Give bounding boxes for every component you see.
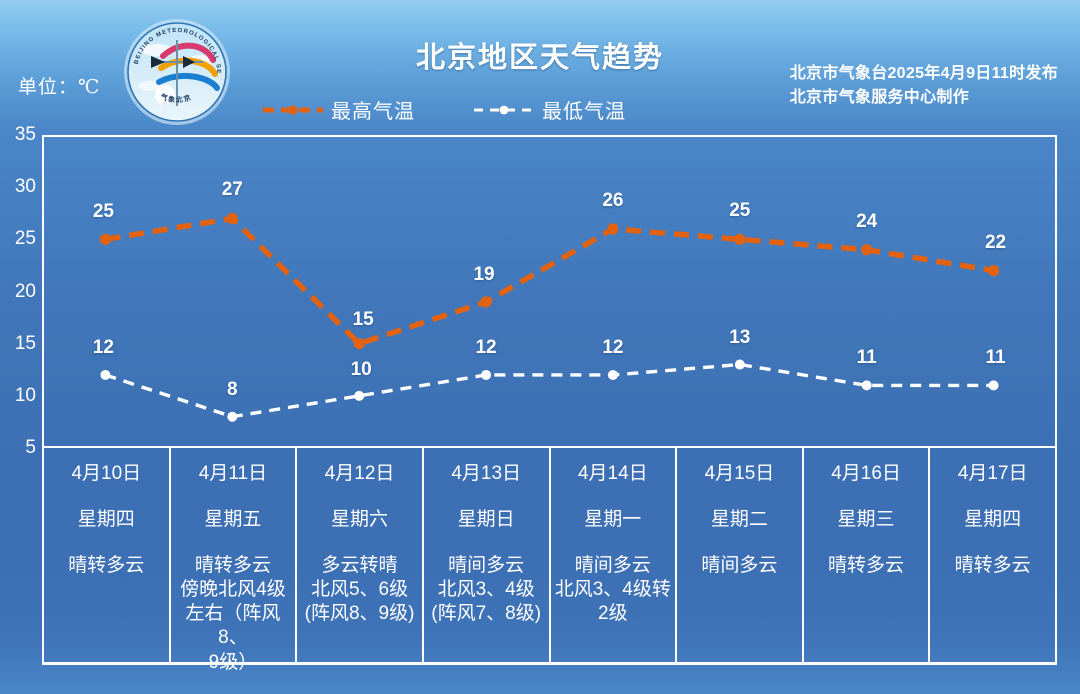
forecast-table: 4月10日星期四晴转多云4月11日星期五晴转多云 傍晚北风4级 左右（阵风8、 … — [42, 448, 1057, 665]
forecast-weekday: 星期六 — [299, 508, 420, 532]
chart-plot-area — [42, 135, 1057, 448]
forecast-day-column: 4月12日星期六多云转晴 北风5、6级 (阵风8、9级) — [297, 448, 424, 662]
forecast-weekday: 星期四 — [932, 508, 1053, 532]
data-point-label: 12 — [475, 337, 496, 359]
legend-item-high-temp: 最高气温 — [262, 95, 415, 124]
data-point-label: 10 — [351, 359, 372, 381]
data-point-label: 13 — [729, 327, 750, 349]
unit-label: 单位：℃ — [18, 72, 100, 99]
forecast-date: 4月11日 — [173, 462, 294, 486]
forecast-weekday: 星期四 — [46, 508, 167, 532]
forecast-description: 晴转多云 傍晚北风4级 左右（阵风8、 9级） — [173, 554, 294, 676]
legend-marker-high-temp-icon — [262, 103, 324, 117]
forecast-day-column: 4月14日星期一晴间多云 北风3、4级转 2级 — [551, 448, 678, 662]
forecast-description: 晴间多云 — [679, 554, 800, 578]
y-axis-tick: 15 — [0, 333, 36, 355]
issuer-info: 北京市气象台2025年4月9日11时发布 北京市气象服务中心制作 — [790, 62, 1058, 110]
forecast-description: 晴转多云 — [46, 554, 167, 578]
forecast-date: 4月12日 — [299, 462, 420, 486]
forecast-date: 4月16日 — [806, 462, 927, 486]
data-point-label: 22 — [985, 232, 1006, 254]
data-point-label: 25 — [729, 200, 750, 222]
forecast-description: 多云转晴 北风5、6级 (阵风8、9级) — [299, 554, 420, 627]
forecast-weekday: 星期日 — [426, 508, 547, 532]
forecast-date: 4月15日 — [679, 462, 800, 486]
data-point-label: 12 — [602, 337, 623, 359]
forecast-weekday: 星期三 — [806, 508, 927, 532]
data-point-label: 12 — [93, 337, 114, 359]
issuer-line-1: 北京市气象台2025年4月9日11时发布 — [790, 62, 1058, 86]
weather-trend-poster: 单位：℃ — [0, 0, 1080, 694]
forecast-date: 4月17日 — [932, 462, 1053, 486]
data-point-label: 11 — [986, 347, 1006, 369]
y-axis-tick: 35 — [0, 124, 36, 146]
forecast-weekday: 星期五 — [173, 508, 294, 532]
forecast-description: 晴转多云 — [932, 554, 1053, 578]
forecast-description: 晴转多云 — [806, 554, 927, 578]
forecast-day-column: 4月13日星期日晴间多云 北风3、4级 (阵风7、8级) — [424, 448, 551, 662]
data-point-label: 24 — [856, 211, 877, 233]
y-axis: 5101520253035 — [0, 122, 36, 462]
forecast-date: 4月14日 — [553, 462, 674, 486]
y-axis-tick: 25 — [0, 228, 36, 250]
y-axis-tick: 20 — [0, 281, 36, 303]
data-point-label: 11 — [857, 347, 877, 369]
forecast-date: 4月10日 — [46, 462, 167, 486]
forecast-date: 4月13日 — [426, 462, 547, 486]
data-point-label: 8 — [227, 379, 238, 401]
y-axis-tick: 30 — [0, 176, 36, 198]
forecast-day-column: 4月16日星期三晴转多云 — [804, 448, 931, 662]
data-point-label: 15 — [353, 309, 374, 331]
legend-label-high-temp: 最高气温 — [331, 95, 415, 124]
data-point-label: 27 — [222, 179, 243, 201]
y-axis-tick: 10 — [0, 385, 36, 407]
chart-legend: 最高气温 最低气温 — [262, 95, 626, 124]
legend-label-low-temp: 最低气温 — [542, 95, 626, 124]
forecast-day-column: 4月10日星期四晴转多云 — [44, 448, 171, 662]
legend-item-low-temp: 最低气温 — [473, 95, 626, 124]
issuer-line-2: 北京市气象服务中心制作 — [790, 86, 1058, 110]
forecast-day-column: 4月17日星期四晴转多云 — [930, 448, 1055, 662]
y-axis-tick: 5 — [0, 437, 36, 459]
data-point-label: 25 — [93, 201, 114, 223]
data-point-label: 26 — [602, 190, 623, 212]
forecast-description: 晴间多云 北风3、4级 (阵风7、8级) — [426, 554, 547, 627]
forecast-day-column: 4月15日星期二晴间多云 — [677, 448, 804, 662]
forecast-weekday: 星期二 — [679, 508, 800, 532]
legend-marker-low-temp-icon — [473, 103, 535, 117]
forecast-description: 晴间多云 北风3、4级转 2级 — [553, 554, 674, 627]
data-point-label: 19 — [473, 264, 494, 286]
forecast-weekday: 星期一 — [553, 508, 674, 532]
forecast-day-column: 4月11日星期五晴转多云 傍晚北风4级 左右（阵风8、 9级） — [171, 448, 298, 662]
